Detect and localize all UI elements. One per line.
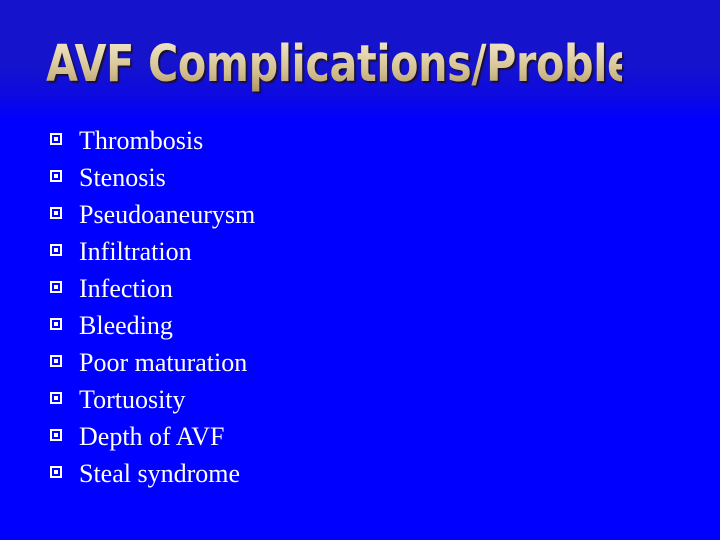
list-item: Infiltration [50,237,690,274]
square-bullet-icon [50,466,62,478]
list-item-label: Stenosis [79,163,166,193]
list-item: Poor maturation [50,348,690,385]
list-item-label: Pseudoaneurysm [79,200,255,230]
page-title: AVF Complications/Problems [46,36,622,94]
list-item-label: Steal syndrome [79,459,240,489]
list-item: Stenosis [50,163,690,200]
list-item-label: Depth of AVF [79,422,224,452]
list-item: Steal syndrome [50,459,690,496]
list-item: Thrombosis [50,126,690,163]
list-item-label: Infection [79,274,173,304]
square-bullet-icon [50,281,62,293]
list-item-label: Tortuosity [79,385,186,415]
list-item-label: Infiltration [79,237,192,267]
square-bullet-icon [50,133,62,145]
square-bullet-icon [50,318,62,330]
slide-title-block: AVF Complications/Problems [46,36,686,98]
list-item: Depth of AVF [50,422,690,459]
list-item-label: Thrombosis [79,126,203,156]
list-item-label: Bleeding [79,311,173,341]
square-bullet-icon [50,170,62,182]
list-item: Tortuosity [50,385,690,422]
square-bullet-icon [50,429,62,441]
list-item: Bleeding [50,311,690,348]
square-bullet-icon [50,244,62,256]
bullet-list: Thrombosis Stenosis Pseudoaneurysm Infil… [50,126,690,496]
list-item: Infection [50,274,690,311]
square-bullet-icon [50,207,62,219]
presentation-slide: AVF Complications/Problems Thrombosis St… [0,0,720,540]
square-bullet-icon [50,355,62,367]
list-item: Pseudoaneurysm [50,200,690,237]
square-bullet-icon [50,392,62,404]
list-item-label: Poor maturation [79,348,247,378]
